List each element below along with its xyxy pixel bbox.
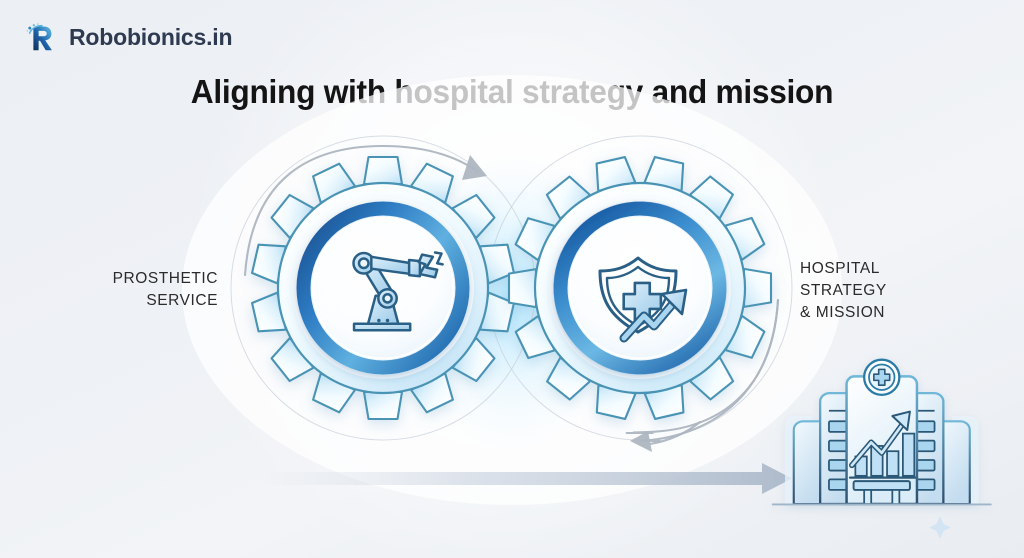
label-hospital-strategy: HOSPITAL STRATEGY & MISSION bbox=[800, 258, 990, 324]
medical-cross-emblem bbox=[864, 360, 899, 395]
label-prosthetic-service: PROSTHETIC SERVICE bbox=[38, 268, 218, 312]
prosthetic-service-gear[interactable] bbox=[251, 157, 515, 419]
sparkle-icon bbox=[929, 516, 951, 539]
slide-canvas: Robobionics.in Aligning with hospital st… bbox=[0, 0, 1024, 558]
